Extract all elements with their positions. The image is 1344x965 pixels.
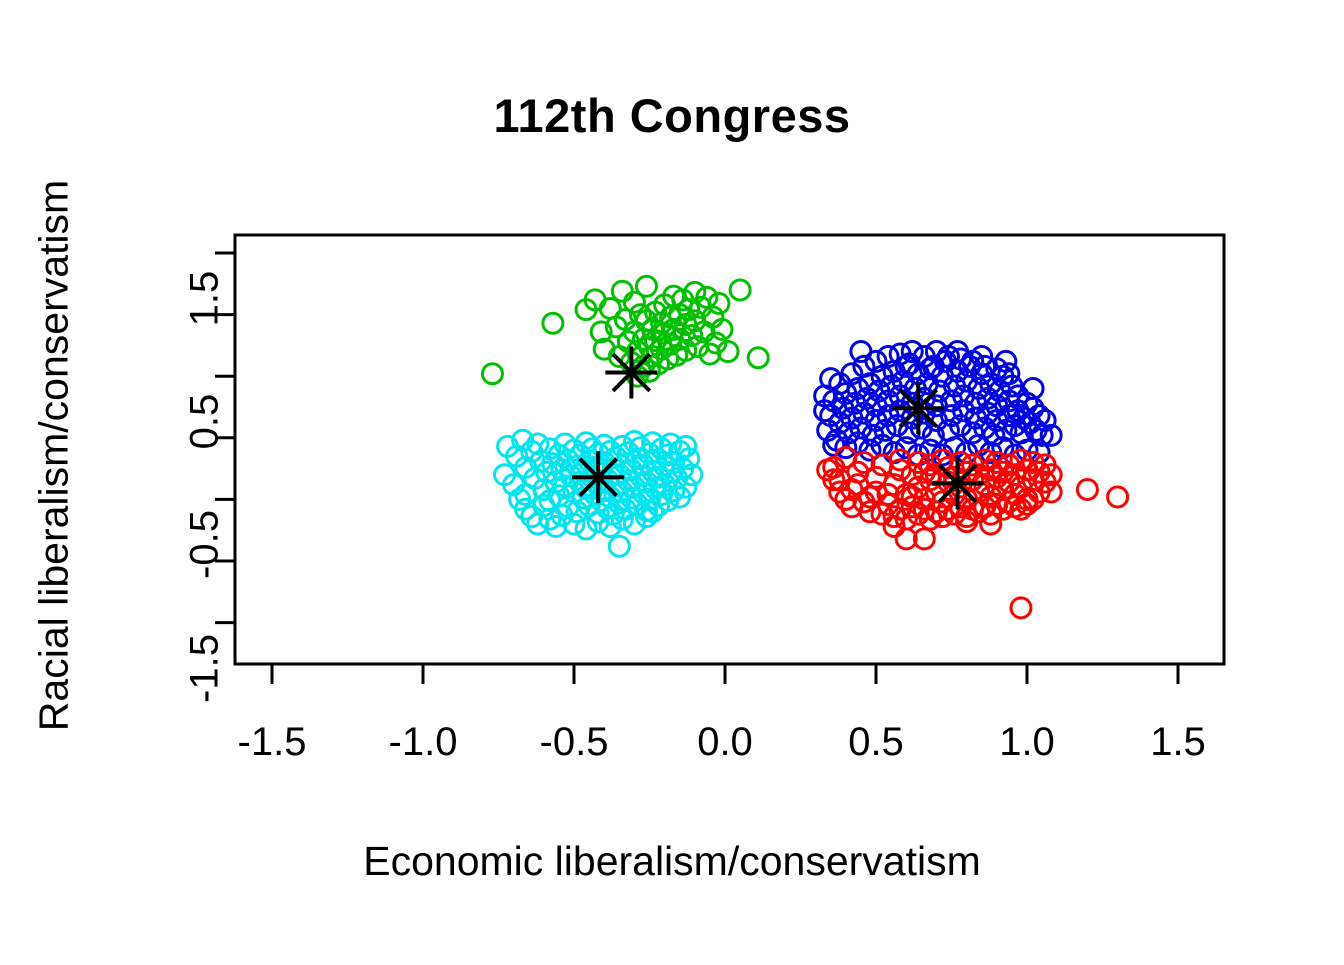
centroid-marker-cluster-green — [605, 347, 657, 399]
y-tick-label: 1.5 — [183, 254, 228, 344]
data-point — [636, 276, 656, 296]
y-tick-label: 0.5 — [183, 377, 228, 467]
data-point — [748, 348, 768, 368]
centroid-marker-cluster-cyan — [572, 451, 624, 503]
y-tick-label: -1.5 — [183, 623, 228, 713]
x-tick-label: 1.5 — [1150, 720, 1206, 765]
x-tick-label: 0.5 — [848, 720, 904, 765]
data-point — [1011, 598, 1031, 618]
data-point — [1108, 487, 1128, 507]
y-tick-label: -0.5 — [183, 500, 228, 590]
x-tick-label: -1.0 — [389, 720, 458, 765]
plot-area-svg — [0, 0, 1344, 960]
x-tick-label: 0.0 — [697, 720, 753, 765]
data-point — [612, 281, 632, 301]
data-point — [730, 280, 750, 300]
scatter-plot-figure: 112th Congress Economic liberalism/conse… — [0, 0, 1344, 960]
series-cluster-red — [818, 448, 1128, 618]
plot-canvas — [0, 0, 1344, 965]
x-tick-label: -1.5 — [238, 720, 307, 765]
data-point — [543, 313, 563, 333]
data-point — [609, 536, 629, 556]
series-cluster-blue — [815, 342, 1062, 465]
data-point — [1077, 480, 1097, 500]
x-tick-label: 1.0 — [999, 720, 1055, 765]
data-points-group — [482, 276, 1127, 618]
series-cluster-green — [482, 276, 768, 386]
data-point — [851, 342, 871, 362]
centroid-marker-cluster-red — [932, 457, 984, 509]
data-point — [482, 364, 502, 384]
centroid-marker-cluster-blue — [892, 382, 944, 434]
x-tick-label: -0.5 — [540, 720, 609, 765]
